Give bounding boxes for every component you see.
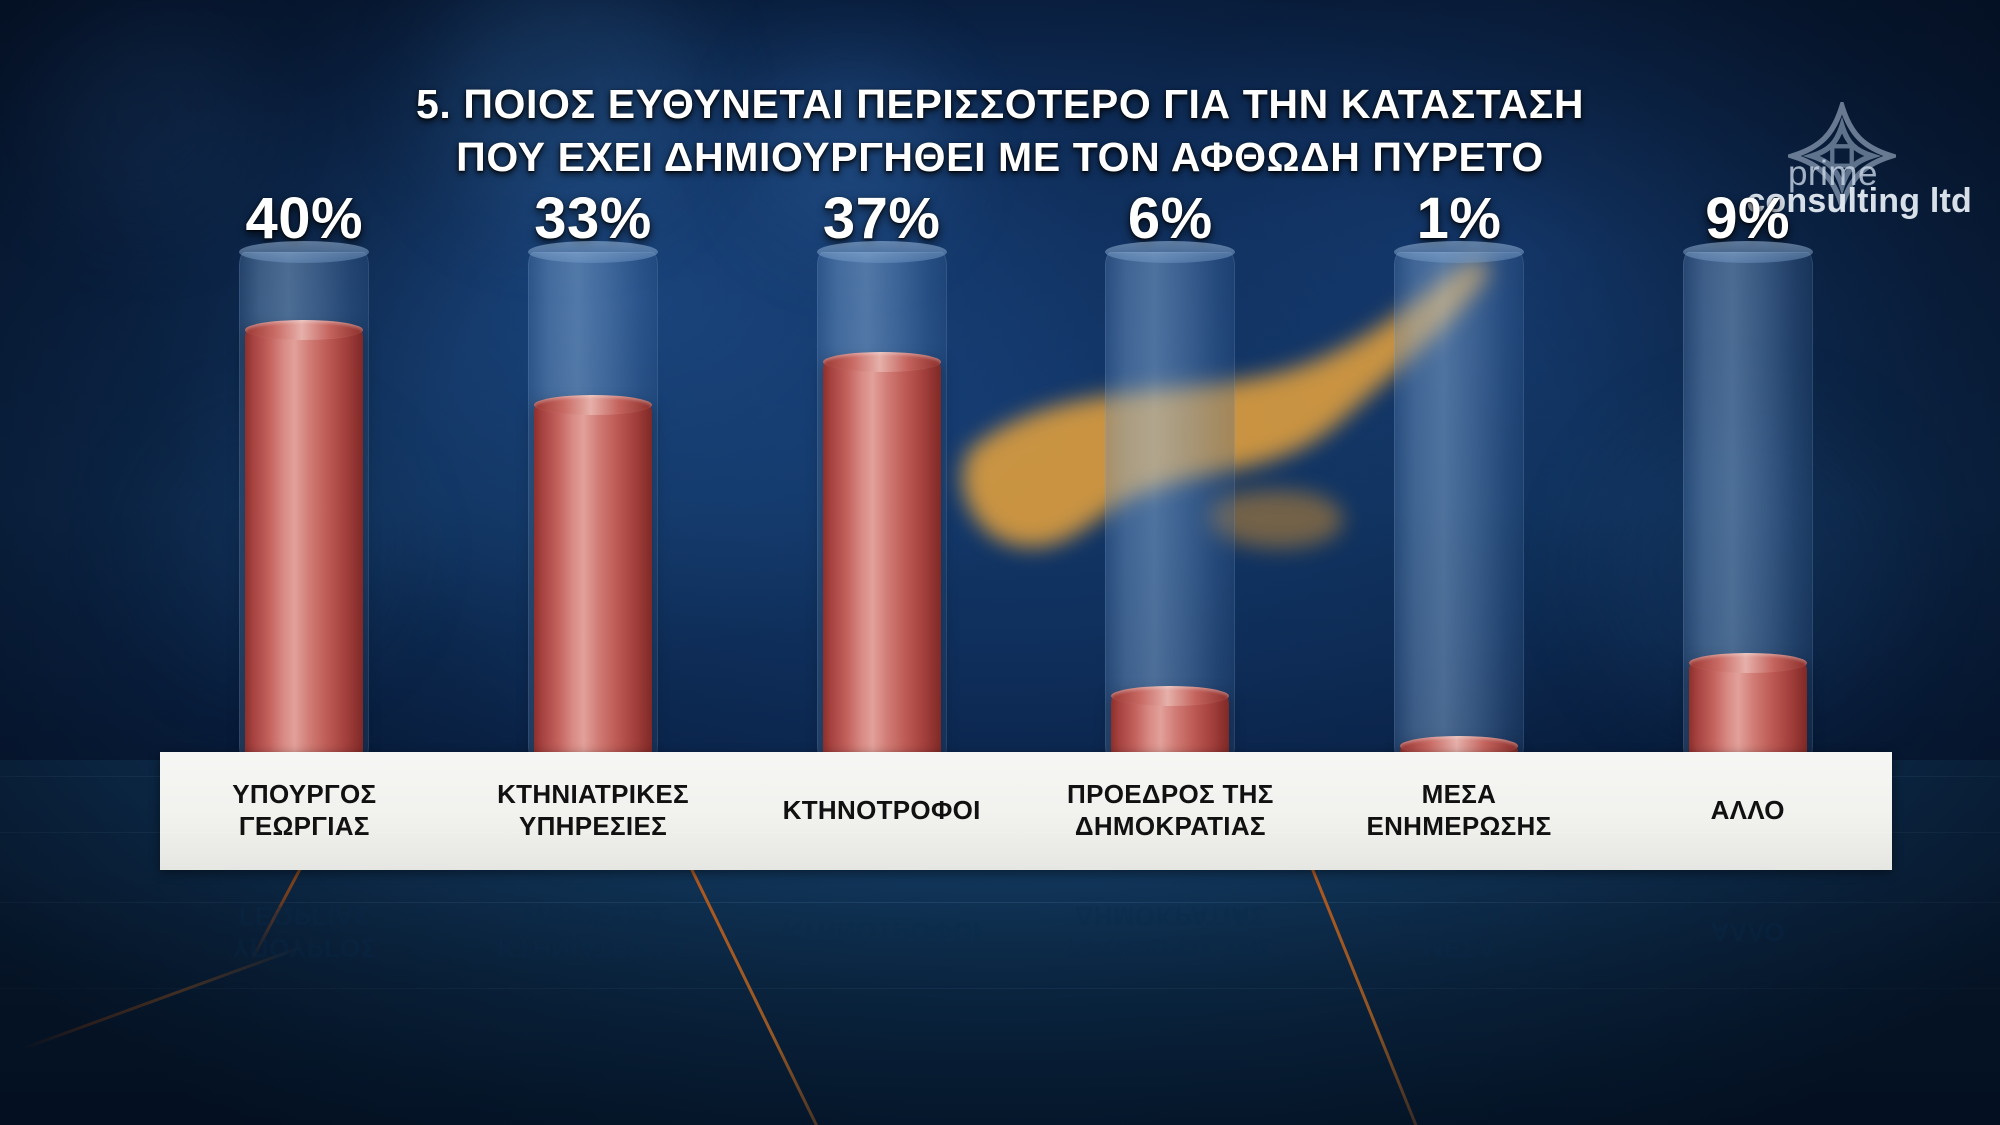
category-label: ΥΠΟΥΡΓΟΣΓΕΩΡΓΙΑΣ — [160, 752, 449, 870]
category-label-band: ΥΠΟΥΡΓΟΣΓΕΩΡΓΙΑΣΚΤΗΝΙΑΤΡΙΚΕΣΥΠΗΡΕΣΙΕΣΚΤΗ… — [160, 752, 1892, 870]
category-label: ΚΤΗΝΙΑΤΡΙΚΕΣΥΠΗΡΕΣΙΕΣ — [449, 752, 738, 870]
category-label-line-1: ΑΛΛΟ — [1711, 795, 1785, 827]
category-label: ΑΛΛΟ — [1603, 752, 1892, 870]
category-label-line-1: ΜΕΣΑ — [1366, 779, 1551, 811]
bar-value-cylinder[interactable] — [1689, 663, 1807, 760]
category-label-line-2: ΕΝΗΜΕΡΩΣΗΣ — [1366, 811, 1551, 843]
bar-value-cylinder[interactable] — [245, 330, 363, 760]
category-label-line-2: ΥΠΗΡΕΣΙΕΣ — [497, 811, 689, 843]
category-label-line-2: ΓΕΩΡΓΙΑΣ — [232, 811, 376, 843]
category-label-line-1: ΚΤΗΝΙΑΤΡΙΚΕΣ — [497, 779, 689, 811]
category-label-line-1: ΠΡΟΕΔΡΟΣ ΤΗΣ — [1067, 779, 1274, 811]
bar-track-cylinder — [1105, 252, 1235, 760]
bar-value-cylinder[interactable] — [823, 362, 941, 760]
category-label: ΚΤΗΝΟΤΡΟΦΟΙ — [737, 752, 1026, 870]
bar-track-cylinder — [1394, 252, 1524, 760]
category-label-line-2: ΔΗΜΟΚΡΑΤΙΑΣ — [1067, 811, 1274, 843]
category-label-line-1: ΥΠΟΥΡΓΟΣ — [232, 779, 376, 811]
bar-value-cylinder[interactable] — [1111, 696, 1229, 761]
category-label: ΠΡΟΕΔΡΟΣ ΤΗΣΔΗΜΟΚΡΑΤΙΑΣ — [1026, 752, 1315, 870]
broadcast-poll-graphic: 5. ΠΟΙΟΣ ΕΥΘΥΝΕΤΑΙ ΠΕΡΙΣΣΟΤΕΡΟ ΓΙΑ ΤΗΝ Κ… — [0, 0, 2000, 1125]
bar-chart: 40%33%37%6%1%9% — [0, 0, 2000, 1125]
category-label-line-1: ΚΤΗΝΟΤΡΟΦΟΙ — [783, 795, 981, 827]
category-label: ΜΕΣΑΕΝΗΜΕΡΩΣΗΣ — [1315, 752, 1604, 870]
bar-value-cylinder[interactable] — [534, 405, 652, 760]
